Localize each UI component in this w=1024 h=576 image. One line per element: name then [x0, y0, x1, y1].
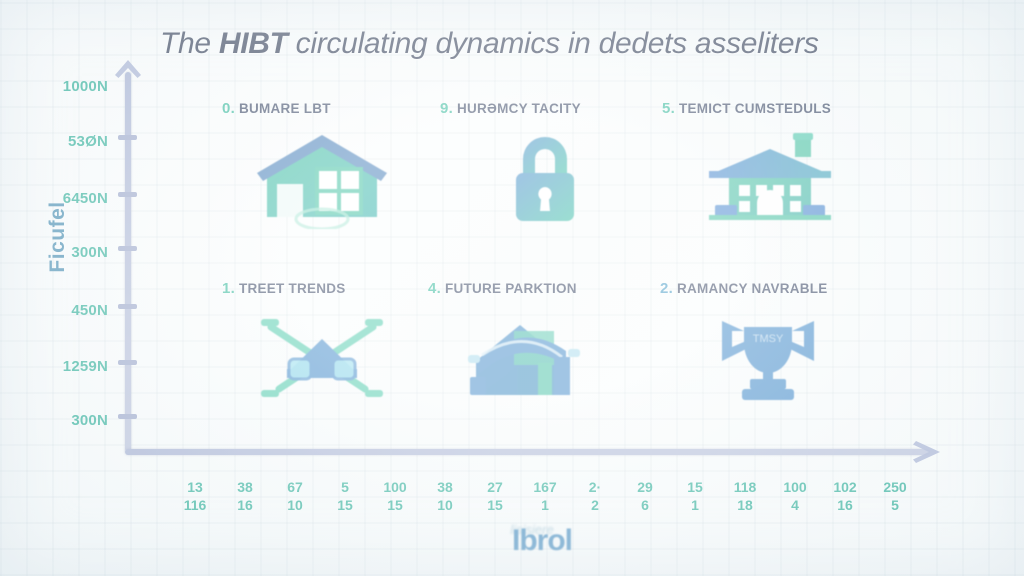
x-tick-label: 13116	[168, 478, 222, 514]
x-tick-label: 3810	[418, 478, 472, 514]
x-tick-bottom: 1	[518, 496, 572, 514]
x-tick-group: 13116 3816 6710 515 10015 3810 2715 1671…	[0, 0, 1024, 576]
x-tick-top: 13	[168, 478, 222, 496]
chart-canvas: The HIBT circulating dynamics in dedets …	[0, 0, 1024, 576]
x-tick-label: 1004	[768, 478, 822, 514]
x-tick-bottom: 116	[168, 496, 222, 514]
x-tick-bottom: 6	[618, 496, 672, 514]
x-tick-top: 250	[868, 478, 922, 496]
x-tick-label: 11818	[718, 478, 772, 514]
x-tick-bottom: 10	[268, 496, 322, 514]
x-tick-top: 5	[318, 478, 372, 496]
x-tick-label: 2715	[468, 478, 522, 514]
x-axis-title-text: Ibrol	[462, 524, 622, 558]
x-tick-top: 167	[518, 478, 572, 496]
x-axis-title: lisisiere Ibrol	[462, 524, 622, 570]
x-tick-bottom: 18	[718, 496, 772, 514]
x-tick-bottom: 15	[468, 496, 522, 514]
x-tick-top: 38	[418, 478, 472, 496]
x-tick-top: 67	[268, 478, 322, 496]
x-tick-label: 2·2	[568, 478, 622, 514]
x-tick-label: 151	[668, 478, 722, 514]
x-tick-bottom: 15	[368, 496, 422, 514]
x-tick-bottom: 15	[318, 496, 372, 514]
x-tick-label: 6710	[268, 478, 322, 514]
x-tick-label: 296	[618, 478, 672, 514]
x-tick-bottom: 1	[668, 496, 722, 514]
x-tick-top: 2·	[568, 478, 622, 496]
x-tick-label: 1671	[518, 478, 572, 514]
x-tick-label: 2505	[868, 478, 922, 514]
x-tick-top: 38	[218, 478, 272, 496]
x-tick-top: 15	[668, 478, 722, 496]
x-tick-bottom: 4	[768, 496, 822, 514]
x-tick-label: 10015	[368, 478, 422, 514]
x-tick-top: 118	[718, 478, 772, 496]
x-tick-top: 100	[768, 478, 822, 496]
x-tick-top: 102	[818, 478, 872, 496]
x-tick-label: 3816	[218, 478, 272, 514]
x-tick-bottom: 16	[818, 496, 872, 514]
x-tick-bottom: 5	[868, 496, 922, 514]
x-tick-top: 29	[618, 478, 672, 496]
x-tick-label: 10216	[818, 478, 872, 514]
x-tick-top: 27	[468, 478, 522, 496]
x-tick-bottom: 16	[218, 496, 272, 514]
x-tick-top: 100	[368, 478, 422, 496]
x-tick-bottom: 10	[418, 496, 472, 514]
x-tick-label: 515	[318, 478, 372, 514]
x-tick-bottom: 2	[568, 496, 622, 514]
